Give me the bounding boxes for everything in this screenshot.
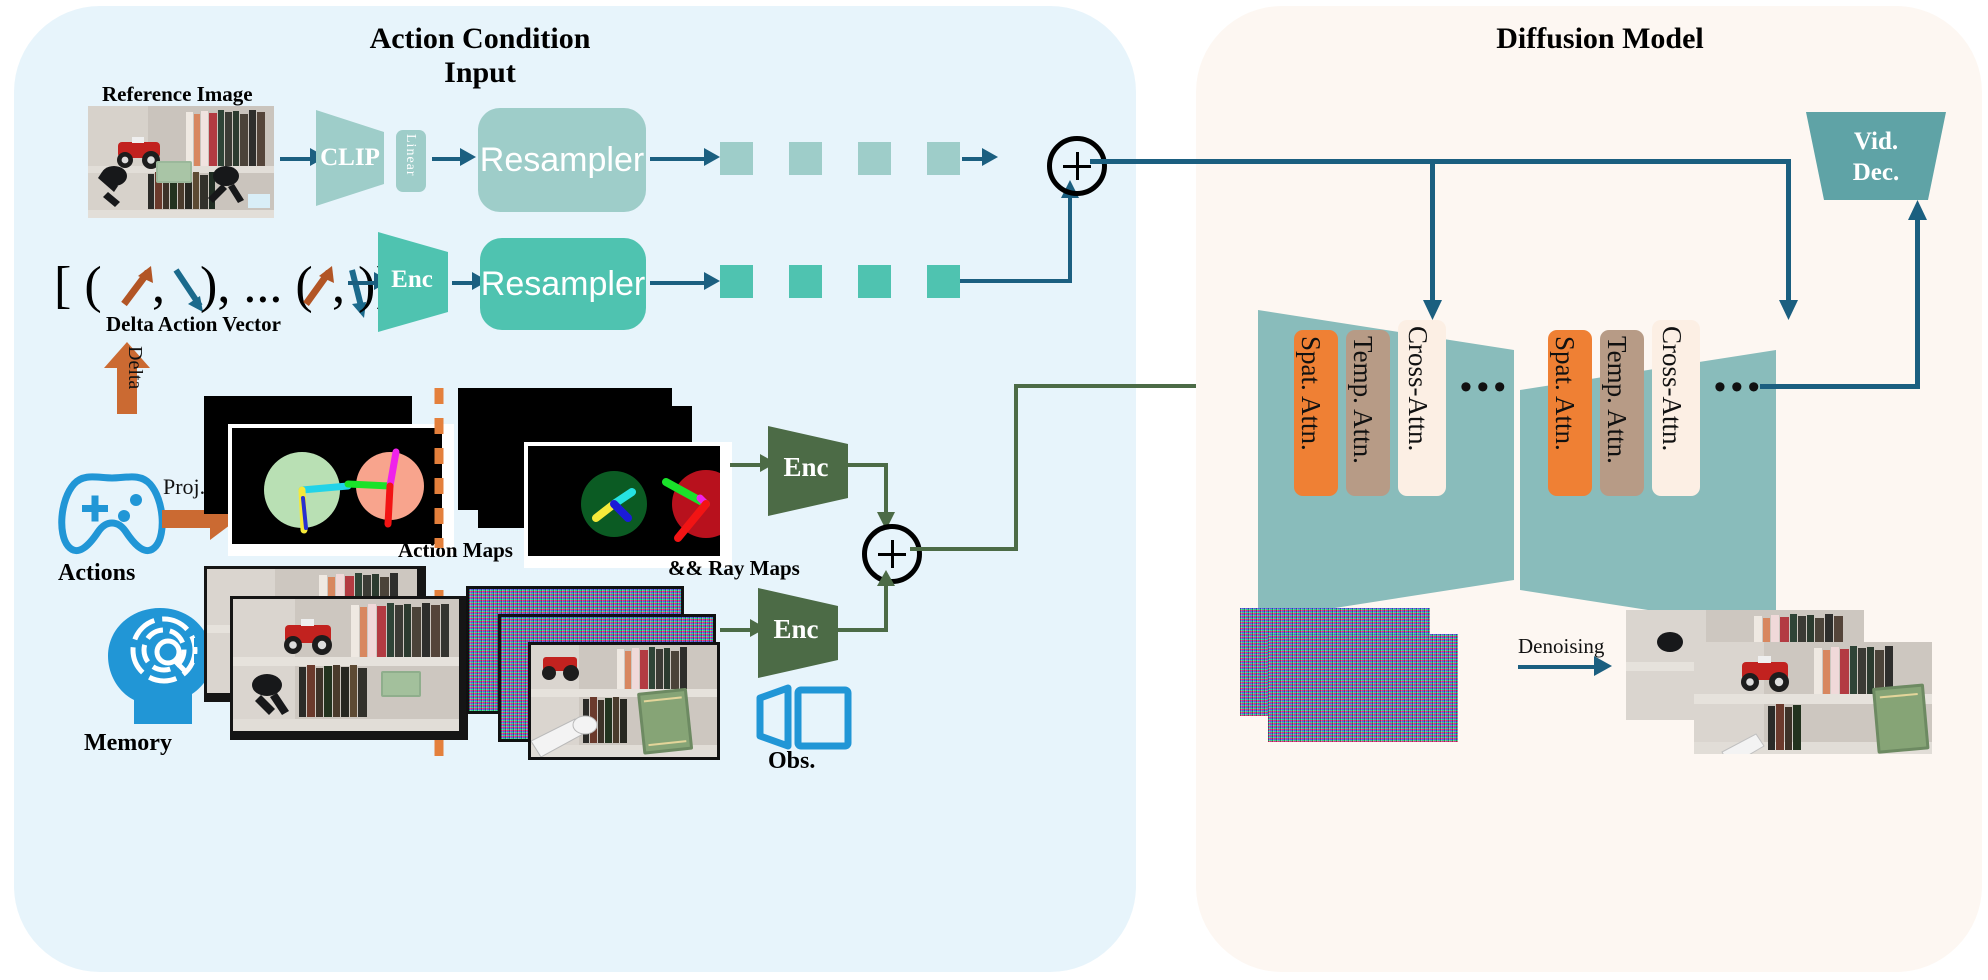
delta-action-vector-label: Delta Action Vector — [106, 312, 281, 337]
action-token-2 — [789, 265, 822, 298]
denoise-input-front — [1268, 634, 1458, 742]
arrowhead-resampler-top — [704, 148, 720, 166]
denoising-label: Denoising — [1518, 634, 1604, 659]
line-cond-to-cross1 — [1430, 159, 1435, 307]
image-token-3 — [858, 142, 891, 175]
action-token-1 — [720, 265, 753, 298]
video-decoder-label-line2: Dec. — [1820, 157, 1932, 188]
actions-label: Actions — [58, 560, 135, 587]
svg-text:[ (: [ ( — [54, 257, 102, 314]
unet-down-ellipsis: ••• — [1460, 368, 1511, 407]
svg-text:,: , — [332, 257, 345, 314]
action-maps-label: Action Maps — [398, 538, 513, 563]
svg-text:,: , — [152, 257, 165, 314]
spatial-attn-1: Spat. Attn. — [1294, 330, 1338, 496]
line-enc-obs-up — [884, 584, 888, 630]
reference-image-thumbnail — [88, 106, 274, 218]
line-unet-out-up — [1915, 218, 1920, 388]
arrow-ref-to-clip — [280, 157, 314, 161]
svg-text:), ... (: ), ... ( — [200, 257, 313, 314]
line-unet-out-right — [1760, 384, 1920, 389]
camera-icon — [756, 684, 852, 750]
line-enc-raymap-down — [884, 463, 888, 517]
arrow-denoising — [1518, 665, 1598, 669]
spatial-attn-2: Spat. Attn. — [1548, 330, 1592, 496]
cross-attn-2: Cross-Attn. — [1652, 320, 1700, 496]
delta-label: Delta — [123, 346, 146, 389]
linear-label-wrap: Linear — [396, 130, 426, 192]
arrow-resampler-to-tokens-top — [650, 157, 708, 161]
arrowhead-resampler-bottom — [704, 272, 720, 290]
image-token-2 — [789, 142, 822, 175]
image-token-4 — [927, 142, 960, 175]
unet-up-ellipsis: ••• — [1714, 368, 1765, 407]
sum-node-condition — [1047, 136, 1107, 196]
ray-maps-label: && Ray Maps — [668, 556, 800, 581]
memory-brain-icon — [94, 600, 222, 730]
clip-label: CLIP — [320, 144, 380, 172]
obs-label: Obs. — [768, 748, 815, 775]
line-action-tokens-up — [1068, 196, 1072, 283]
arrow-obs-to-enc — [720, 628, 754, 632]
arrowhead-tokens-sum1 — [982, 148, 998, 166]
denoise-output-front — [1694, 642, 1932, 754]
panel-title-diffusion-model: Diffusion Model — [1430, 22, 1770, 56]
enc-action-label: Enc — [382, 266, 442, 294]
gamepad-icon — [56, 470, 168, 558]
arrow-resampler-bottom-to-tokens — [650, 281, 708, 285]
delta-arrow-label-wrap: Delta — [128, 346, 154, 416]
arrowhead-enc-obs-sum2 — [877, 570, 895, 586]
enc-obs-label: Enc — [760, 614, 832, 645]
panel-title-action-condition-input: Action Condition Input — [330, 22, 630, 90]
temporal-attn-2: Temp. Attn. — [1600, 330, 1644, 496]
linear-label: Linear — [402, 134, 418, 177]
obs-frame-front — [528, 642, 720, 760]
line-cond-bus — [1090, 159, 1790, 164]
line-enc-obs-right — [836, 628, 888, 632]
arrowhead-linear-to-resampler — [460, 148, 476, 166]
line-sum2-right — [910, 547, 1018, 551]
memory-label: Memory — [84, 730, 172, 757]
line-enc-raymap-right — [846, 463, 888, 467]
line-sum2-up — [1014, 384, 1018, 551]
enc-raymap-label: Enc — [770, 452, 842, 483]
video-decoder-label-line1: Vid. — [1820, 126, 1932, 157]
image-token-1 — [720, 142, 753, 175]
line-action-tokens-right — [960, 279, 1072, 283]
temporal-attn-1: Temp. Attn. — [1346, 330, 1390, 496]
resampler-action-block: Resampler — [480, 238, 646, 330]
arrow-raymaps-to-enc — [730, 463, 764, 467]
reference-image-label: Reference Image — [102, 82, 253, 107]
video-decoder-label: Vid. Dec. — [1820, 126, 1932, 188]
line-cond-to-cross2 — [1786, 159, 1791, 307]
divider-dashed-upper — [434, 388, 444, 548]
cross-attn-1: Cross-Attn. — [1398, 320, 1446, 496]
action-token-4 — [927, 265, 960, 298]
action-token-3 — [858, 265, 891, 298]
line-sum2-to-unet — [1014, 384, 1220, 388]
memory-frame-front — [230, 596, 468, 740]
resampler-image-block: Resampler — [478, 108, 646, 212]
action-map-front — [228, 424, 454, 556]
arrowhead-unet-to-viddec — [1908, 200, 1927, 220]
proj-label: Proj. — [163, 474, 205, 500]
ray-map-front — [524, 442, 732, 568]
arrowhead-cond-cross2 — [1779, 300, 1798, 320]
arrowhead-denoising — [1594, 656, 1612, 676]
